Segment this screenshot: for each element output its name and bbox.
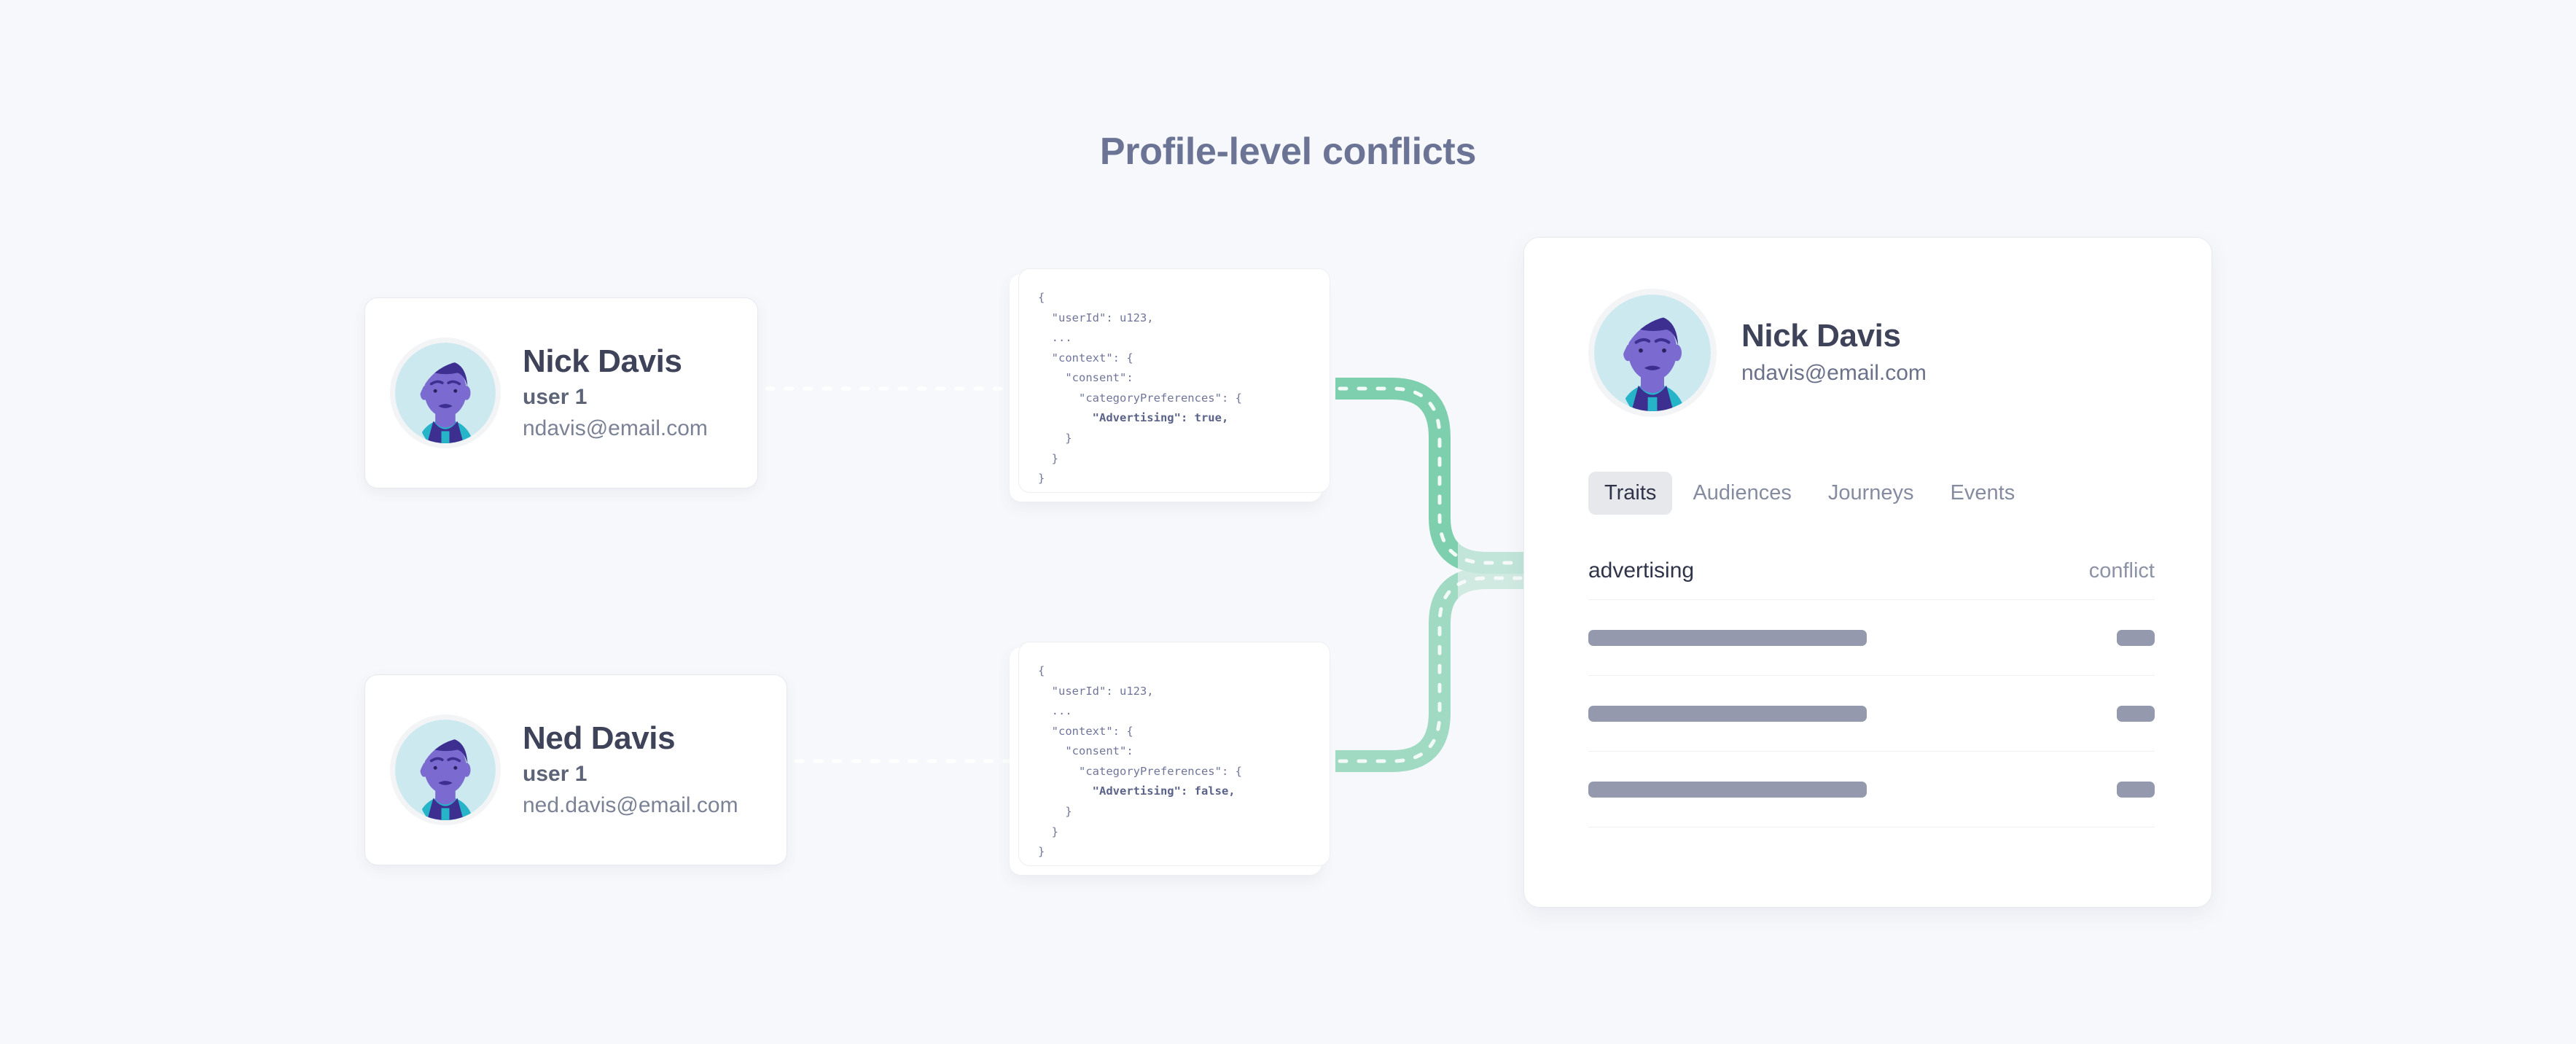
trait-value-placeholder <box>1588 630 1867 646</box>
profile-tabs: Traits Audiences Journeys Events <box>1588 472 2155 515</box>
avatar <box>390 714 501 825</box>
connector-payload-top-to-profile <box>1335 389 1523 563</box>
avatar <box>390 338 501 448</box>
avatar <box>1588 289 1717 417</box>
payload-highlight-line: "Advertising": false, <box>1038 784 1236 798</box>
payload-code-block[interactable]: { "userId": u123, ... "context": { "cons… <box>1018 642 1330 866</box>
payload-code-block[interactable]: { "userId": u123, ... "context": { "cons… <box>1018 268 1330 493</box>
tab-journeys[interactable]: Journeys <box>1812 472 1930 515</box>
payload-code-text: { "userId": u123, ... "context": { "cons… <box>1038 288 1315 489</box>
profile-identifier: user 1 <box>523 760 738 788</box>
payload-highlight-line: "Advertising": true, <box>1038 411 1228 424</box>
avatar-illustration-icon <box>395 720 496 820</box>
source-profile-card-nick[interactable]: Nick Davis user 1 ndavis@email.com <box>364 297 758 488</box>
trait-status-placeholder <box>2117 782 2155 798</box>
diagram-canvas: Profile-level conflicts <box>0 0 2576 1044</box>
payload-code-text: { "userId": u123, ... "context": { "cons… <box>1038 661 1315 862</box>
panel-profile-name: Nick Davis <box>1741 317 1927 356</box>
page-title: Profile-level conflicts <box>0 130 2576 174</box>
avatar-illustration-icon <box>1594 295 1711 411</box>
unified-profile-panel: Nick Davis ndavis@email.com Traits Audie… <box>1523 237 2212 908</box>
trait-value-placeholder <box>1588 782 1867 798</box>
profile-name: Ned Davis <box>523 720 738 757</box>
trait-status-placeholder <box>2117 706 2155 722</box>
panel-header: Nick Davis ndavis@email.com <box>1588 289 2155 417</box>
trait-value-placeholder <box>1588 706 1867 722</box>
connector-payload-bottom-to-profile <box>1335 578 1523 761</box>
profile-email: ned.davis@email.com <box>523 791 738 819</box>
avatar-illustration-icon <box>395 343 496 443</box>
tab-audiences[interactable]: Audiences <box>1677 472 1807 515</box>
profile-meta: Ned Davis user 1 ned.davis@email.com <box>523 720 738 820</box>
payload-card-top: { "userId": u123, ... "context": { "cons… <box>1010 268 1330 502</box>
panel-profile-email: ndavis@email.com <box>1741 359 1927 389</box>
column-header-trait: advertising <box>1588 558 1694 583</box>
profile-identifier: user 1 <box>523 383 708 411</box>
column-header-status: conflict <box>2089 559 2155 583</box>
profile-name: Nick Davis <box>523 343 708 381</box>
tab-traits[interactable]: Traits <box>1588 472 1672 515</box>
source-profile-card-ned[interactable]: Ned Davis user 1 ned.davis@email.com <box>364 674 787 865</box>
profile-email: ndavis@email.com <box>523 414 708 443</box>
traits-table-header: advertising conflict <box>1588 558 2155 600</box>
trait-status-placeholder <box>2117 630 2155 646</box>
table-row[interactable] <box>1588 600 2155 676</box>
table-row[interactable] <box>1588 752 2155 827</box>
payload-card-bottom: { "userId": u123, ... "context": { "cons… <box>1010 642 1330 875</box>
tab-events[interactable]: Events <box>1935 472 2031 515</box>
panel-identity: Nick Davis ndavis@email.com <box>1741 317 1927 388</box>
profile-meta: Nick Davis user 1 ndavis@email.com <box>523 343 708 443</box>
table-row[interactable] <box>1588 676 2155 752</box>
